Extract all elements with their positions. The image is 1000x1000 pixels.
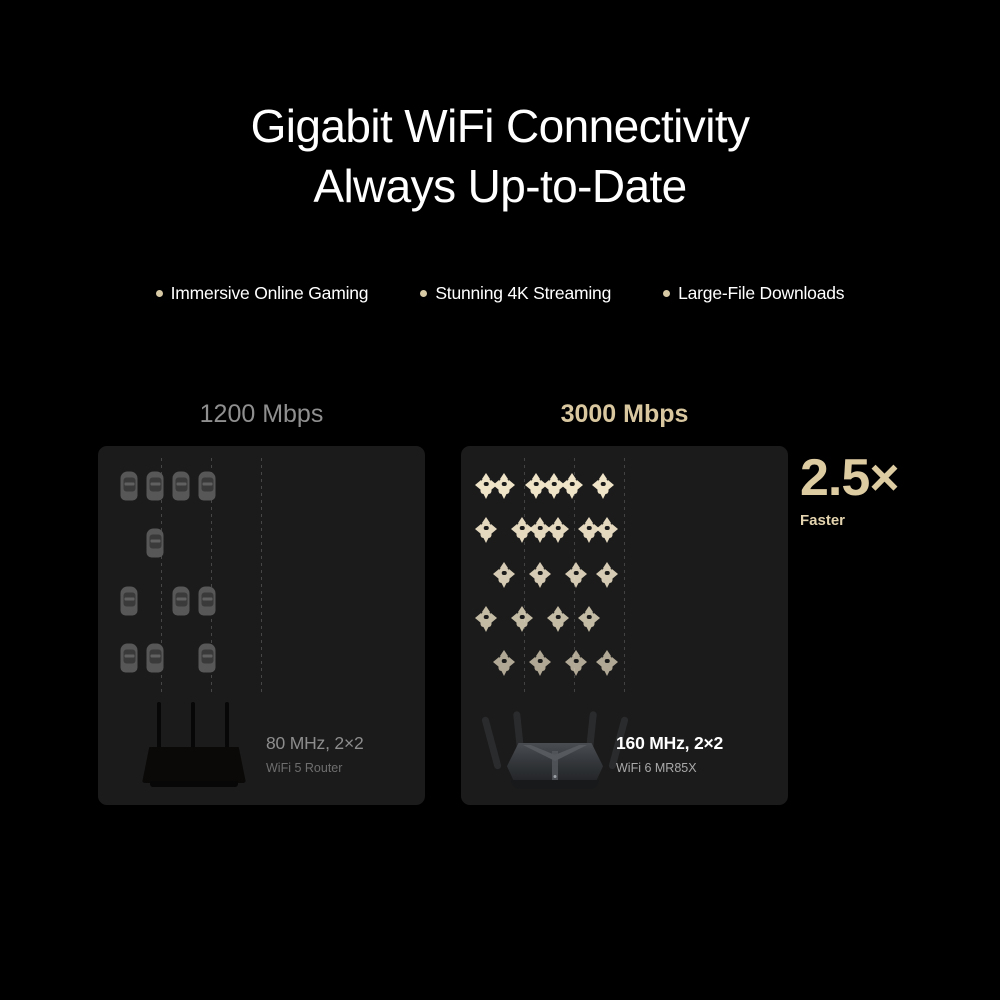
car-icon: [121, 587, 138, 616]
rocket-icon: [596, 650, 618, 676]
spec-text-wifi6: 160 MHz, 2×2: [616, 733, 723, 754]
car-icon: [147, 644, 164, 673]
rocket-icon: [493, 650, 515, 676]
multiplier-value: 2.5×: [800, 452, 899, 504]
rocket-field: [461, 446, 788, 700]
car-icon: [199, 644, 216, 673]
speed-label-wifi6: 3000 Mbps: [461, 400, 788, 429]
bullet-dot-icon: [420, 290, 427, 297]
speed-label-wifi5: 1200 Mbps: [98, 400, 425, 429]
rocket-icon: [547, 606, 569, 632]
mr85x-router-icon: [489, 699, 621, 795]
car-icon: [121, 472, 138, 501]
rocket-icon: [529, 562, 551, 588]
device-labels-wifi5: 80 MHz, 2×2 WiFi 5 Router: [266, 733, 364, 775]
spec-text-wifi5: 80 MHz, 2×2: [266, 733, 364, 754]
device-row-wifi6: 160 MHz, 2×2 WiFi 6 MR85X: [461, 700, 788, 805]
rocket-icon: [475, 517, 497, 543]
bullet-dot-icon: [156, 290, 163, 297]
feature-bullet: Stunning 4K Streaming: [420, 283, 611, 304]
car-icon: [147, 472, 164, 501]
device-name-wifi6: WiFi 6 MR85X: [616, 761, 723, 775]
rocket-icon: [475, 606, 497, 632]
car-field: [98, 446, 425, 700]
feature-bullet-list: Immersive Online GamingStunning 4K Strea…: [0, 283, 1000, 304]
rocket-icon: [592, 473, 614, 499]
multiplier-label: Faster: [800, 512, 899, 529]
headline-line-1: Gigabit WiFi Connectivity: [251, 100, 750, 152]
comparison-panel-wifi5: 80 MHz, 2×2 WiFi 5 Router: [98, 446, 425, 805]
feature-bullet-label: Immersive Online Gaming: [171, 283, 369, 304]
speed-multiplier-callout: 2.5× Faster: [800, 452, 899, 529]
rocket-icon: [578, 606, 600, 632]
rocket-icon: [529, 650, 551, 676]
car-icon: [121, 644, 138, 673]
rocket-icon: [493, 562, 515, 588]
rocket-icon: [596, 517, 618, 543]
feature-bullet-label: Stunning 4K Streaming: [435, 283, 611, 304]
comparison-panel-wifi6: 160 MHz, 2×2 WiFi 6 MR85X: [461, 446, 788, 805]
rocket-icon: [493, 473, 515, 499]
car-icon: [199, 472, 216, 501]
rocket-icon: [547, 517, 569, 543]
car-icon: [173, 587, 190, 616]
car-icon: [147, 529, 164, 558]
wifi5-router-icon: [138, 703, 250, 789]
device-name-wifi5: WiFi 5 Router: [266, 761, 364, 775]
rocket-icon: [596, 562, 618, 588]
device-labels-wifi6: 160 MHz, 2×2 WiFi 6 MR85X: [616, 733, 723, 775]
rocket-icon: [561, 473, 583, 499]
car-icon: [199, 587, 216, 616]
feature-bullet: Immersive Online Gaming: [156, 283, 369, 304]
device-row-wifi5: 80 MHz, 2×2 WiFi 5 Router: [98, 700, 425, 805]
promo-graphic: Gigabit WiFi Connectivity Always Up-to-D…: [0, 0, 1000, 1000]
feature-bullet: Large-File Downloads: [663, 283, 844, 304]
car-icon: [173, 472, 190, 501]
headline-line-2: Always Up-to-Date: [0, 156, 1000, 216]
bullet-dot-icon: [663, 290, 670, 297]
rocket-icon: [511, 606, 533, 632]
feature-bullet-label: Large-File Downloads: [678, 283, 844, 304]
rocket-icon: [565, 562, 587, 588]
rocket-icon: [565, 650, 587, 676]
page-title: Gigabit WiFi Connectivity Always Up-to-D…: [0, 96, 1000, 216]
